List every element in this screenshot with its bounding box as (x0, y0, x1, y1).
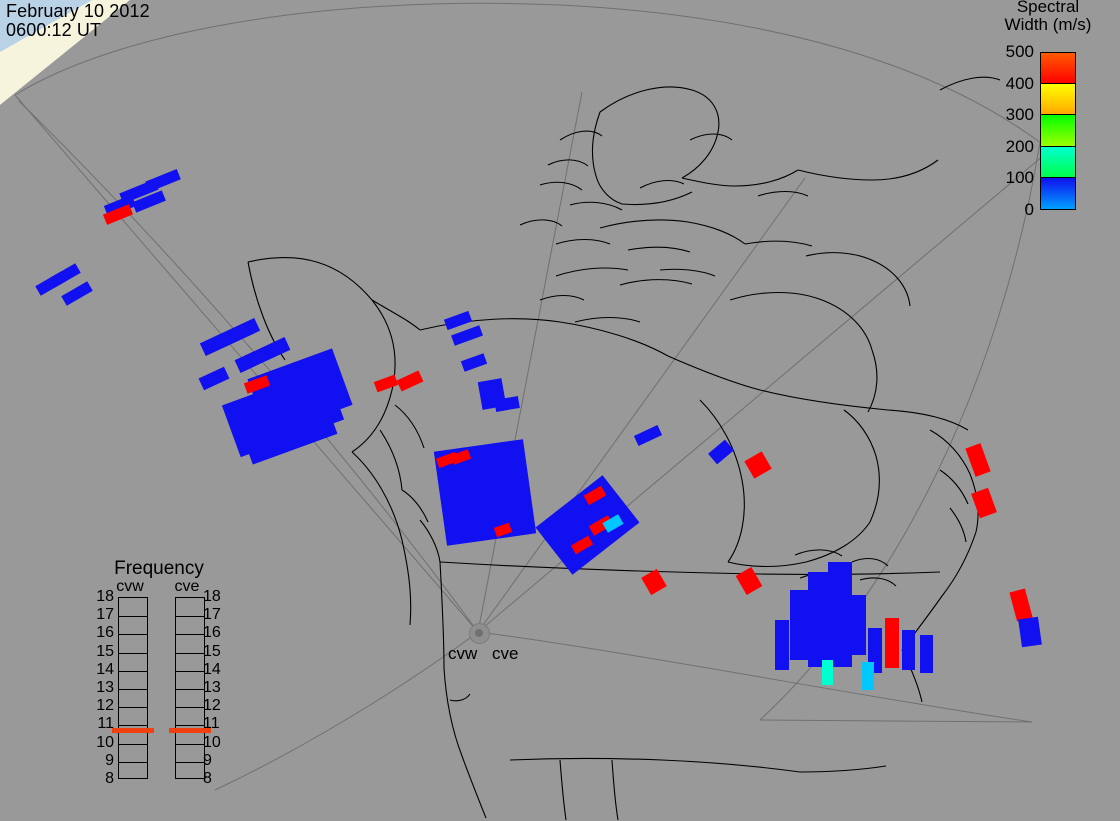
radar-echo-cell (200, 318, 260, 356)
frequency-bar-cve[interactable] (175, 597, 205, 779)
frequency-tick-label: 11 (203, 716, 229, 732)
frequency-tick-label: 8 (203, 771, 229, 787)
radar-echo-cell (199, 367, 230, 391)
frequency-tick-divider (119, 653, 147, 654)
colorbar (1040, 52, 1076, 210)
radar-echo-cell (374, 375, 398, 393)
radar-echo-cell (634, 425, 662, 446)
radar-echo-cell (775, 620, 789, 670)
frequency-tick-label: 13 (88, 680, 114, 696)
frequency-tick-label: 9 (203, 753, 229, 769)
radar-echo-cell (461, 353, 487, 372)
frequency-tick-divider (119, 671, 147, 672)
frequency-tick-label: 12 (88, 698, 114, 714)
colorbar-title: Spectral Width (m/s) (978, 0, 1118, 34)
frequency-tick-divider (119, 744, 147, 745)
frequency-tick-label: 14 (88, 662, 114, 678)
radar-echo-cell (451, 325, 483, 346)
radar-echo-cell (145, 169, 181, 192)
frequency-tick-label: 16 (88, 625, 114, 641)
frequency-tick-divider (119, 725, 147, 726)
frequency-tick-label: 18 (88, 589, 114, 605)
radar-echo-cell (744, 451, 771, 478)
radar-echo-cell (885, 618, 899, 668)
colorbar-segment (1041, 84, 1075, 115)
colorbar-tick-label: 100 (978, 169, 1034, 186)
radar-echo-cell (1009, 588, 1032, 621)
frequency-tick-divider (119, 707, 147, 708)
fov-boundaries (15, 3, 1050, 790)
timestamp: February 10 2012 0600:12 UT (6, 2, 150, 40)
radar-echo-cell (850, 595, 866, 655)
radar-echo-cell (736, 567, 763, 595)
frequency-tick-divider (176, 653, 204, 654)
radar-station-marker[interactable] (469, 623, 490, 644)
radar-echo-cell (822, 660, 833, 685)
frequency-bar-cvw[interactable] (118, 597, 148, 779)
map-layer (0, 0, 1120, 821)
frequency-tick-label: 14 (203, 662, 229, 678)
colorbar-segment (1041, 147, 1075, 178)
frequency-tick-divider (176, 634, 204, 635)
frequency-tick-divider (176, 671, 204, 672)
frequency-tick-label: 9 (88, 753, 114, 769)
frequency-tick-divider (119, 634, 147, 635)
colorbar-gradient (1040, 52, 1076, 210)
frequency-tick-label: 12 (203, 698, 229, 714)
frequency-legend-title: Frequency (104, 558, 214, 580)
radar-echo-cell (828, 562, 852, 667)
frequency-tick-label: 11 (88, 716, 114, 732)
radar-echo-cell (902, 630, 915, 670)
frequency-tick-divider (119, 616, 147, 617)
frequency-tick-divider (119, 762, 147, 763)
frequency-tick-label: 16 (203, 625, 229, 641)
frequency-tick-label: 13 (203, 680, 229, 696)
frequency-tick-label: 17 (203, 607, 229, 623)
radar-echo-cell (920, 635, 933, 673)
radar-echo-cell (790, 590, 808, 660)
frequency-marker-cvw (112, 728, 154, 733)
radar-echo-cell (1018, 617, 1042, 648)
radar-echo-cell (971, 488, 997, 519)
colorbar-tick-label: 400 (978, 75, 1034, 92)
frequency-tick-divider (176, 762, 204, 763)
colorbar-tick-label: 500 (978, 43, 1034, 60)
colorbar-tick-label: 200 (978, 138, 1034, 155)
colorbar-tick-label: 300 (978, 106, 1034, 123)
radar-echo-cell (536, 475, 640, 575)
frequency-tick-label: 15 (88, 644, 114, 660)
radar-map-canvas: cvw cve February 10 2012 0600:12 UT Spec… (0, 0, 1120, 821)
frequency-tick-divider (119, 689, 147, 690)
frequency-tick-label: 10 (88, 735, 114, 751)
frequency-tick-divider (176, 616, 204, 617)
frequency-tick-label: 15 (203, 644, 229, 660)
radar-echo-cell (444, 311, 472, 330)
frequency-tick-label: 8 (88, 771, 114, 787)
frequency-tick-divider (176, 725, 204, 726)
station-label-cvw: cvw (448, 644, 477, 664)
radar-echo-cell (808, 572, 828, 667)
colorbar-segment (1041, 115, 1075, 146)
radar-echo-cell (641, 569, 667, 595)
colorbar-segment (1041, 53, 1075, 84)
frequency-tick-label: 17 (88, 607, 114, 623)
frequency-tick-divider (176, 707, 204, 708)
frequency-tick-label: 18 (203, 589, 229, 605)
radar-echo-cell (61, 281, 92, 306)
colorbar-tick-label: 0 (978, 201, 1034, 218)
radar-echo-cell (862, 662, 874, 690)
frequency-tick-divider (176, 744, 204, 745)
coastlines (248, 77, 1000, 820)
station-label-cve: cve (492, 644, 518, 664)
colorbar-segment (1041, 178, 1075, 209)
frequency-tick-divider (176, 689, 204, 690)
radar-echo-cell (397, 370, 424, 391)
frequency-tick-label: 10 (203, 735, 229, 751)
